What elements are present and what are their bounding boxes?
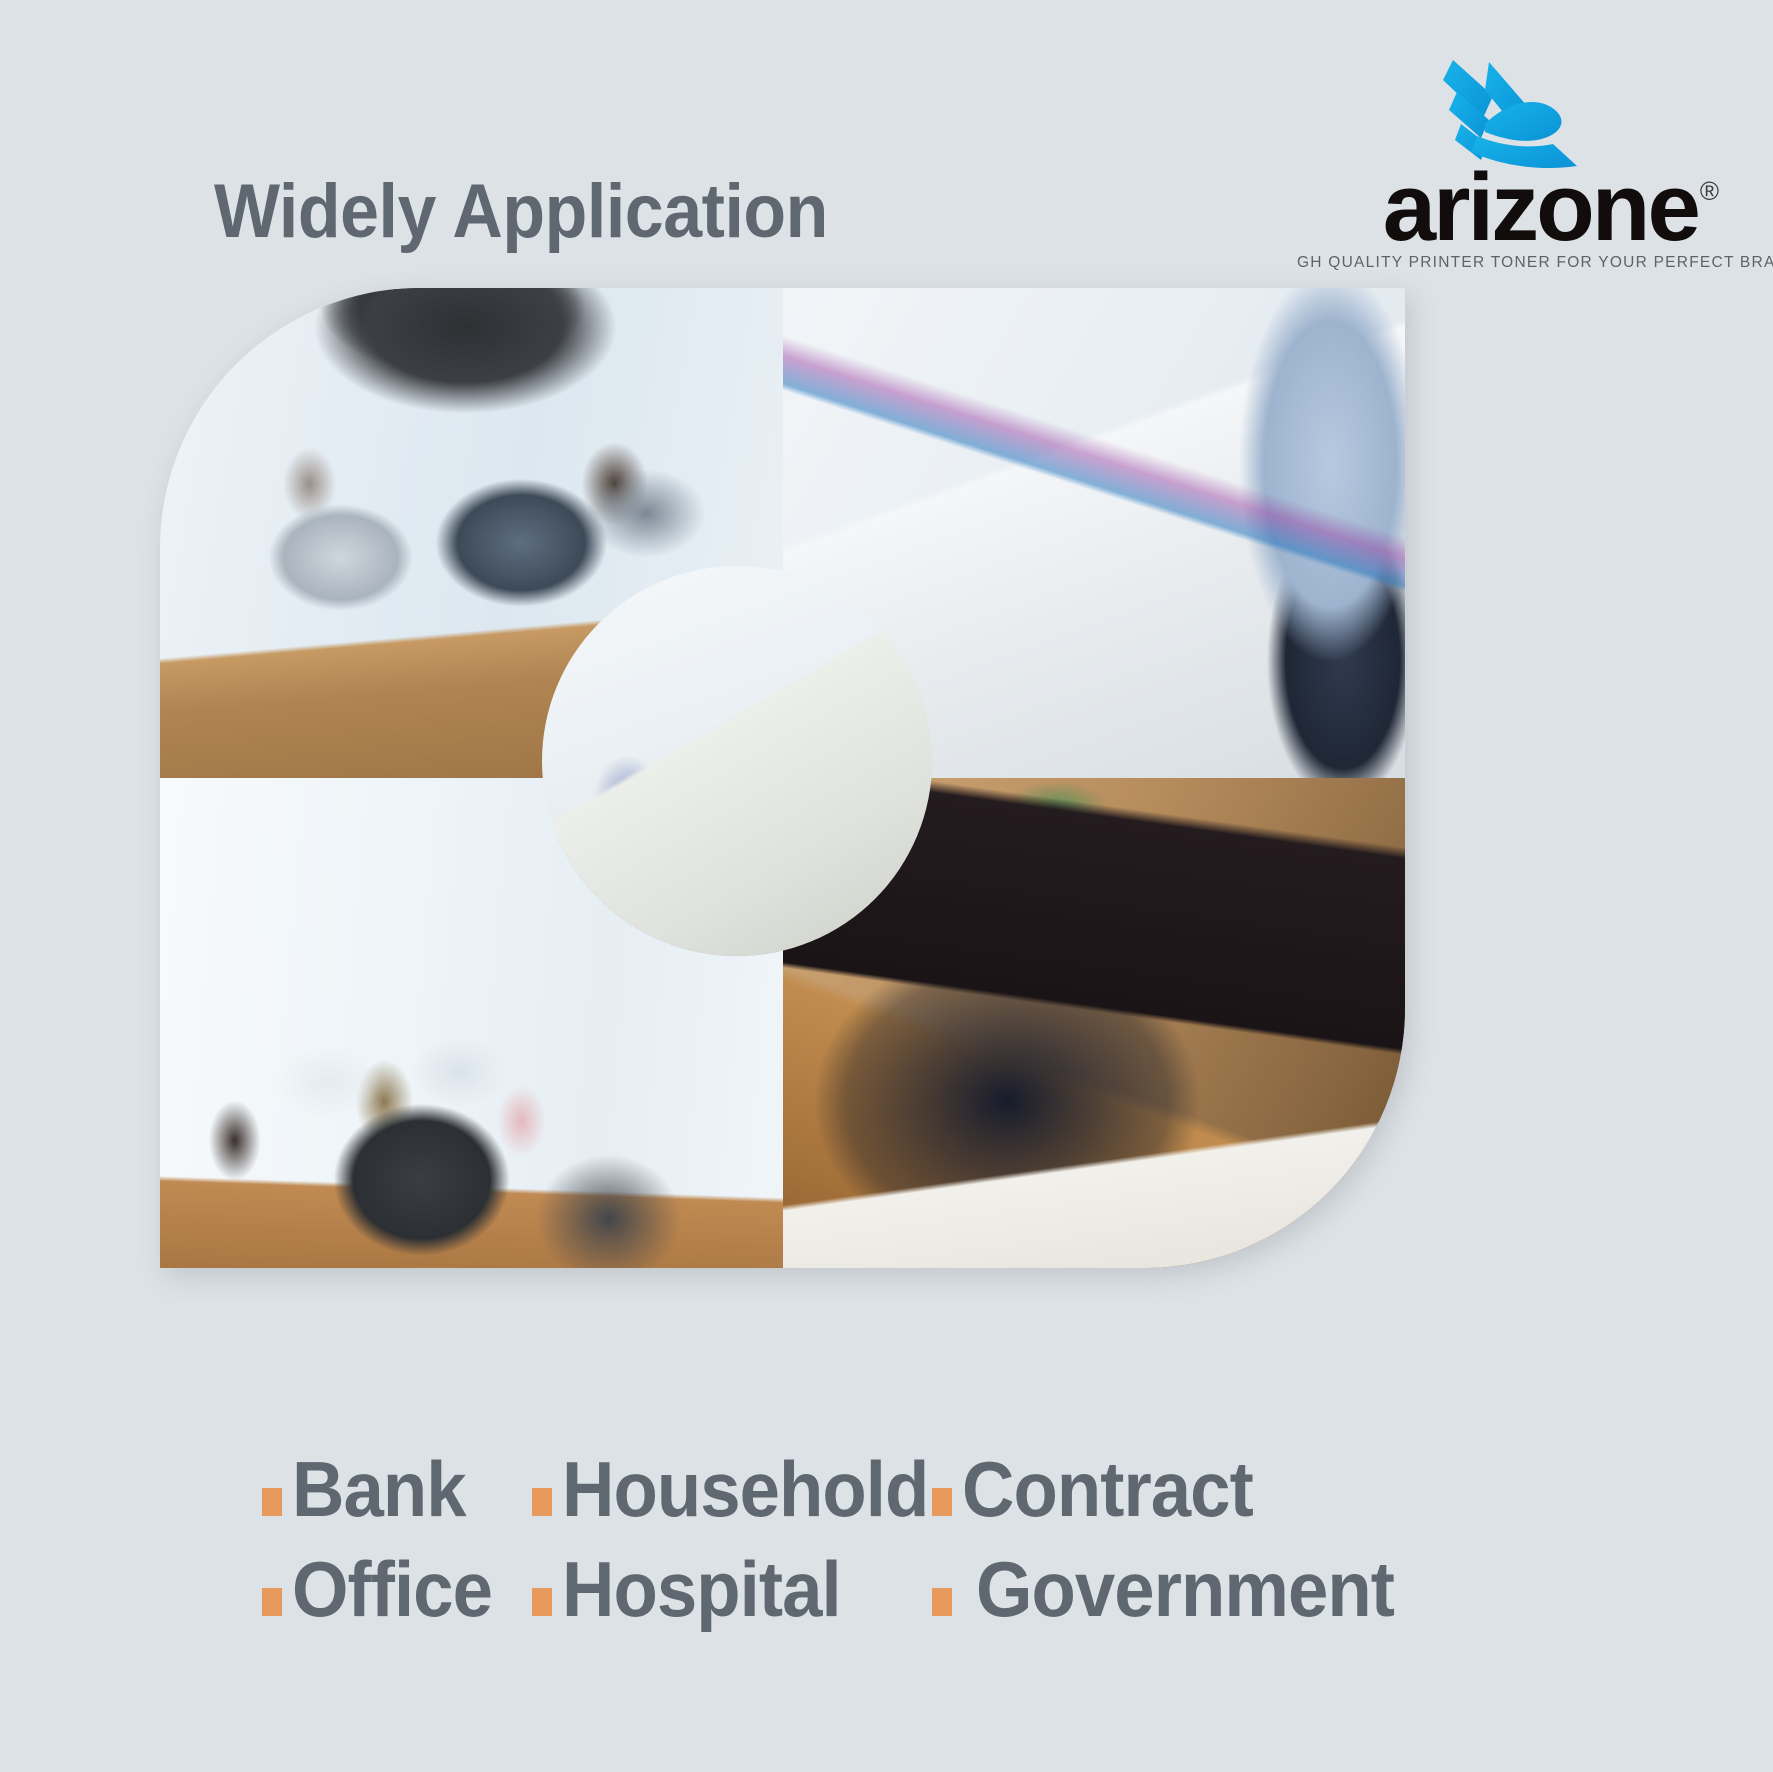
application-label: Government <box>976 1552 1394 1626</box>
page-title: Widely Application <box>214 168 828 255</box>
brand-wordmark-row: arizone® <box>1297 160 1717 256</box>
bullet-square-icon <box>262 1488 282 1516</box>
bullet-square-icon <box>932 1588 952 1616</box>
application-label: Contract <box>962 1452 1253 1526</box>
bullet-square-icon <box>262 1588 282 1616</box>
brand-logo: arizone® GH QUALITY PRINTER TONER FOR YO… <box>1297 40 1717 245</box>
application-item-household: Household <box>532 1452 932 1526</box>
collage-circle-inset-copier-room <box>542 566 932 956</box>
application-item-office: Office <box>262 1552 532 1626</box>
application-item-bank: Bank <box>262 1452 532 1526</box>
bullet-square-icon <box>532 1588 552 1616</box>
application-label: Bank <box>292 1452 466 1526</box>
application-item-government: Government <box>932 1552 1352 1626</box>
bird-icon <box>1427 40 1627 170</box>
label-row: Bank Household Contract <box>262 1452 1562 1526</box>
application-item-contract: Contract <box>932 1452 1352 1526</box>
brand-wordmark: arizone <box>1383 160 1698 256</box>
label-row: Office Hospital Government <box>262 1552 1562 1626</box>
application-labels: Bank Household Contract Office Hospital <box>262 1452 1562 1652</box>
bullet-square-icon <box>932 1488 952 1516</box>
infographic-page: Widely Application ar <box>0 0 1773 1772</box>
brand-tagline: GH QUALITY PRINTER TONER FOR YOUR PERFEC… <box>1297 254 1717 272</box>
bullet-square-icon <box>532 1488 552 1516</box>
registered-trademark-icon: ® <box>1700 176 1719 206</box>
application-label: Hospital <box>562 1552 841 1626</box>
photo-collage <box>160 288 1405 1268</box>
photo-image <box>542 566 932 956</box>
application-label: Office <box>292 1552 492 1626</box>
application-item-hospital: Hospital <box>532 1552 932 1626</box>
application-label: Household <box>562 1452 928 1526</box>
